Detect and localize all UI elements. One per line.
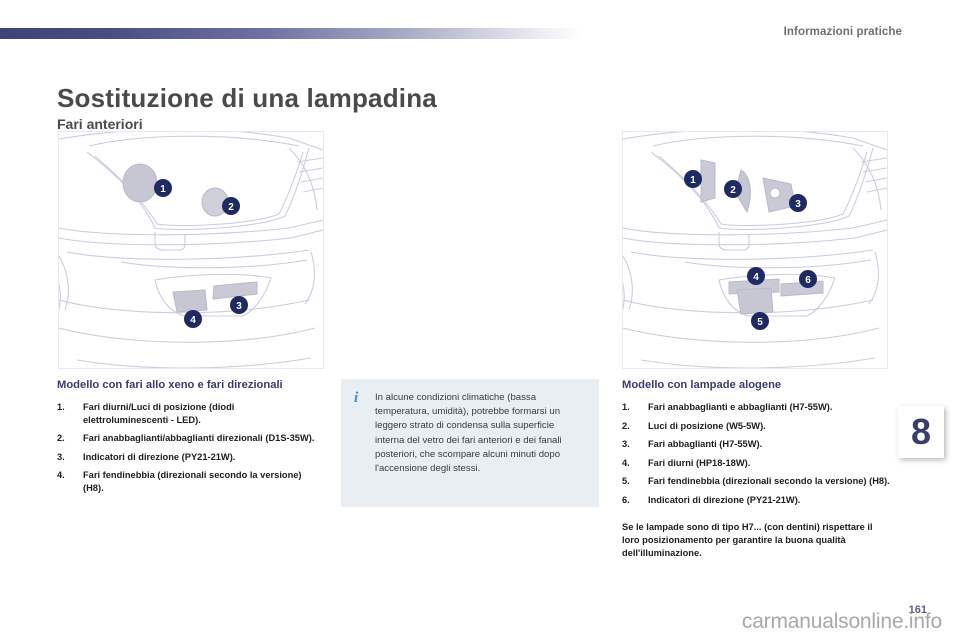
list-item-label: Luci di posizione (W5-5W). bbox=[648, 421, 766, 431]
halogen-bulb-list: 1. Fari anabbaglianti e abbaglianti (H7-… bbox=[622, 401, 892, 507]
list-item-label: Fari diurni (HP18-18W). bbox=[648, 458, 750, 468]
list-item: 6. Indicatori di direzione (PY21-21W). bbox=[622, 494, 892, 507]
list-item-number: 2. bbox=[622, 420, 630, 433]
list-item: 1. Fari anabbaglianti e abbaglianti (H7-… bbox=[622, 401, 892, 414]
list-item-number: 2. bbox=[57, 432, 65, 445]
list-item-label: Fari abbaglianti (H7-55W). bbox=[648, 439, 762, 449]
list-item-number: 5. bbox=[622, 475, 630, 488]
list-item-label: Fari fendinebbia (direzionali secondo la… bbox=[648, 476, 890, 486]
chapter-number: 8 bbox=[911, 414, 931, 450]
section-title: Fari anteriori bbox=[57, 116, 143, 132]
svg-text:1: 1 bbox=[690, 175, 696, 186]
list-item: 4. Fari diurni (HP18-18W). bbox=[622, 457, 892, 470]
svg-text:3: 3 bbox=[795, 199, 801, 210]
xenon-bulb-list: 1. Fari diurni/Luci di posizione (diodi … bbox=[57, 401, 315, 495]
list-item: 4. Fari fendinebbia (direzionali secondo… bbox=[57, 469, 315, 494]
svg-text:1: 1 bbox=[160, 184, 166, 195]
list-item-number: 3. bbox=[622, 438, 630, 451]
halogen-list-heading: Modello con lampade alogene bbox=[622, 378, 892, 392]
list-item-number: 6. bbox=[622, 494, 630, 507]
list-item-label: Indicatori di direzione (PY21-21W). bbox=[83, 452, 235, 462]
list-item-number: 1. bbox=[57, 401, 65, 414]
svg-text:2: 2 bbox=[730, 185, 736, 196]
xenon-bulb-list-column: Modello con fari allo xeno e fari direzi… bbox=[57, 378, 315, 501]
list-item: 2. Fari anabbaglianti/abbaglianti direzi… bbox=[57, 432, 315, 445]
xenon-headlight-diagram: 1 2 3 4 bbox=[58, 131, 324, 369]
info-icon: i bbox=[354, 391, 358, 406]
halogen-headlight-diagram: 1 2 3 4 5 6 bbox=[622, 131, 888, 369]
svg-text:5: 5 bbox=[757, 317, 763, 328]
svg-text:4: 4 bbox=[753, 272, 759, 283]
list-item: 3. Indicatori di direzione (PY21-21W). bbox=[57, 451, 315, 464]
closing-note: Se le lampade sono di tipo H7... (con de… bbox=[622, 521, 892, 561]
chapter-breadcrumb: Informazioni pratiche bbox=[784, 26, 902, 38]
chapter-number-tab: 8 bbox=[898, 406, 944, 458]
list-item: 1. Fari diurni/Luci di posizione (diodi … bbox=[57, 401, 315, 426]
info-callout-box: i In alcune condizioni climatiche (bassa… bbox=[341, 379, 599, 507]
svg-text:4: 4 bbox=[190, 315, 196, 326]
svg-text:3: 3 bbox=[236, 301, 242, 312]
list-item: 2. Luci di posizione (W5-5W). bbox=[622, 420, 892, 433]
list-item-number: 4. bbox=[622, 457, 630, 470]
list-item-label: Fari anabbaglianti/abbaglianti direziona… bbox=[83, 433, 314, 443]
list-item-number: 3. bbox=[57, 451, 65, 464]
list-item-label: Fari anabbaglianti e abbaglianti (H7-55W… bbox=[648, 402, 832, 412]
info-callout-text: In alcune condizioni climatiche (bassa t… bbox=[375, 391, 585, 476]
list-item-number: 4. bbox=[57, 469, 65, 482]
header-accent-bar bbox=[0, 28, 580, 39]
list-item: 3. Fari abbaglianti (H7-55W). bbox=[622, 438, 892, 451]
list-item-label: Fari fendinebbia (direzionali secondo la… bbox=[83, 470, 302, 493]
list-item-label: Indicatori di direzione (PY21-21W). bbox=[648, 495, 800, 505]
watermark: carmanualsonline.info bbox=[742, 610, 942, 634]
svg-text:6: 6 bbox=[805, 275, 811, 286]
list-item-label: Fari diurni/Luci di posizione (diodi ele… bbox=[83, 402, 234, 425]
xenon-list-heading: Modello con fari allo xeno e fari direzi… bbox=[57, 378, 315, 392]
page-title: Sostituzione di una lampadina bbox=[57, 83, 437, 114]
list-item: 5. Fari fendinebbia (direzionali secondo… bbox=[622, 475, 892, 488]
list-item-number: 1. bbox=[622, 401, 630, 414]
svg-text:2: 2 bbox=[228, 202, 234, 213]
halogen-bulb-list-column: Modello con lampade alogene 1. Fari anab… bbox=[622, 378, 892, 560]
